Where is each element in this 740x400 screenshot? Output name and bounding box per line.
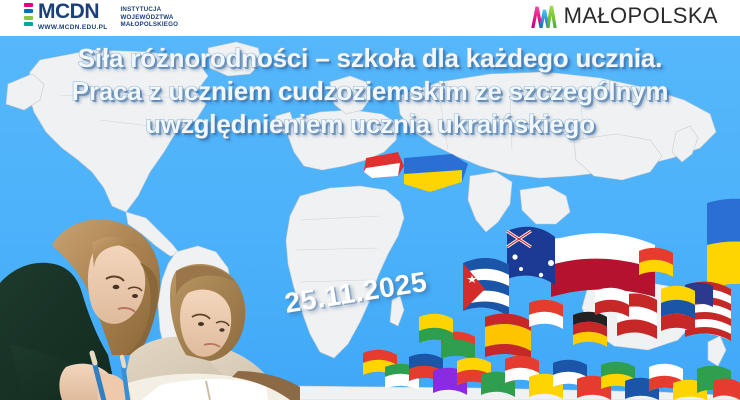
mcdn-logo[interactable]: MCDN WWW.MCDN.EDU.PL INSTYTUCJA WOJEWÓDZ… <box>24 2 178 32</box>
malopolska-wordmark: MAŁOPOLSKA <box>564 4 718 28</box>
flag-cuba <box>463 258 509 317</box>
mcdn-url: WWW.MCDN.EDU.PL <box>38 23 108 32</box>
mcdn-subtitle: INSTYTUCJA WOJEWÓDZTWA MAŁOPOLSKIEGO <box>121 6 179 29</box>
mcdn-name: MCDN <box>38 2 108 22</box>
malopolska-logo[interactable]: MAŁOPOLSKA <box>531 4 718 28</box>
mcdn-wordmark: MCDN WWW.MCDN.EDU.PL <box>38 2 108 32</box>
flag-australia <box>507 227 555 285</box>
flag-germany <box>573 312 607 347</box>
mcdn-color-bars-icon <box>24 2 33 26</box>
header-band: MCDN WWW.MCDN.EDU.PL INSTYTUCJA WOJEWÓDZ… <box>0 0 740 36</box>
teacher-and-pupil-photo <box>0 205 300 400</box>
mcdn-subtitle-line-1: INSTYTUCJA <box>121 6 162 13</box>
poster-canvas: 25.11.2025 Siła różnorodności – szkoła d… <box>0 0 740 400</box>
flag-venezuela <box>661 286 695 333</box>
malopolska-m-icon <box>531 4 557 28</box>
mcdn-subtitle-line-2: WOJEWÓDZTWA <box>121 14 174 21</box>
mcdn-subtitle-line-3: MAŁOPOLSKIEGO <box>121 21 179 28</box>
flag-ukraine <box>707 199 740 291</box>
